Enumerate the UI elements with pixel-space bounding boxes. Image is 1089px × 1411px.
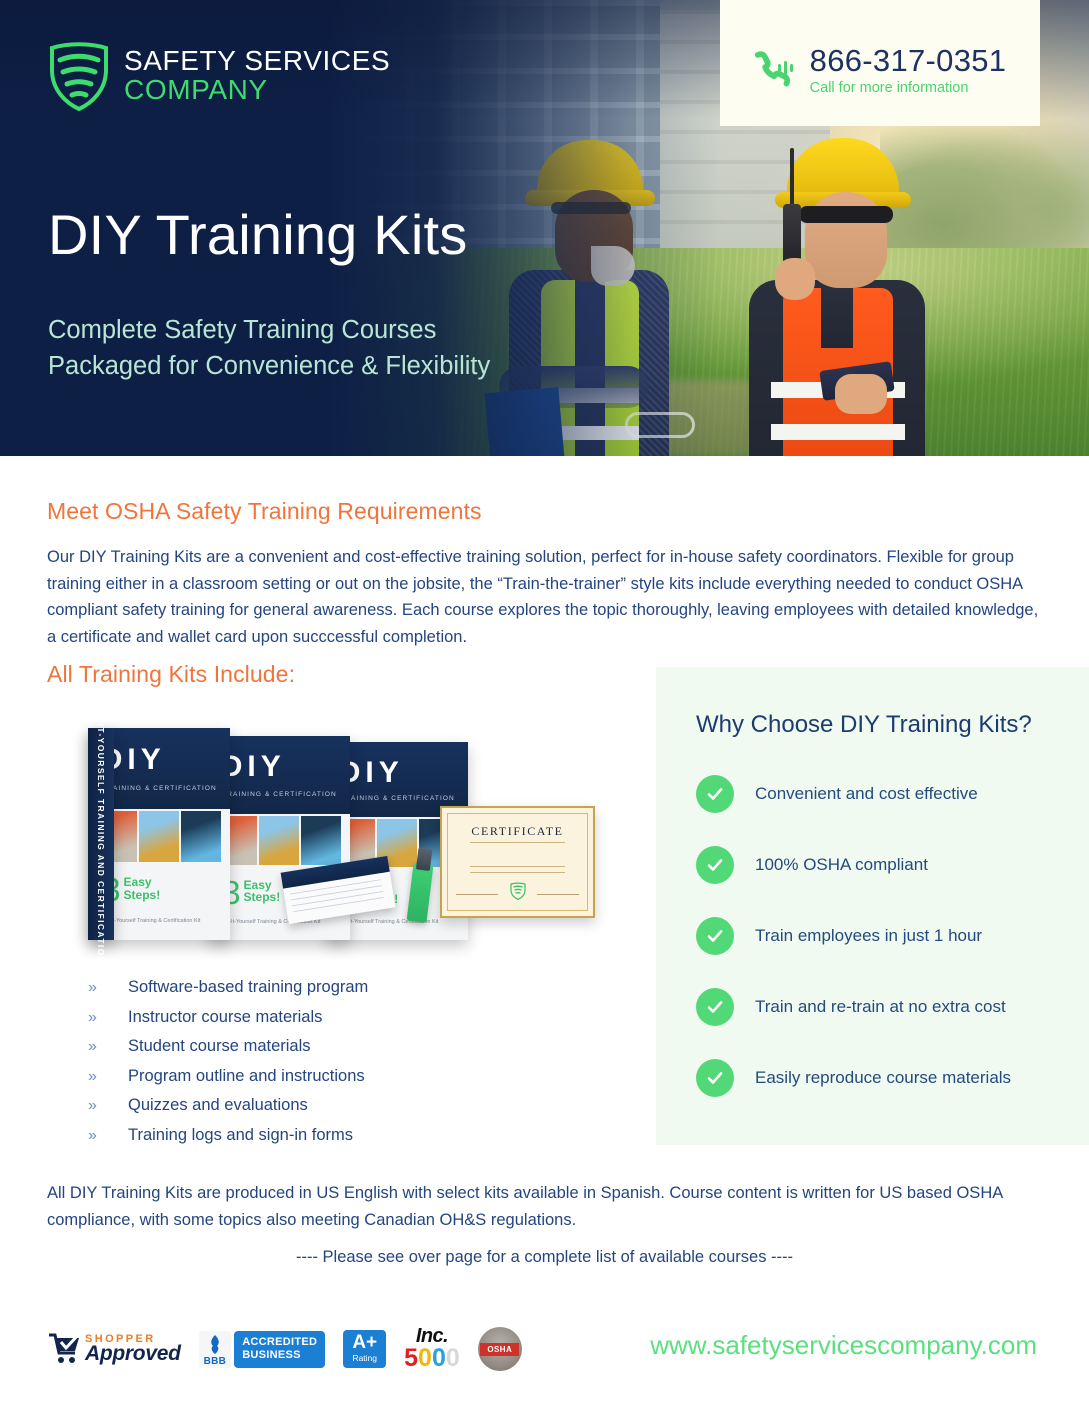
- list-item: 100% OSHA compliant: [696, 846, 1011, 884]
- list-item-label: Train and re-train at no extra cost: [755, 997, 1006, 1017]
- page-title: DIY Training Kits: [48, 202, 467, 267]
- footnote-paragraph: All DIY Training Kits are produced in US…: [47, 1180, 1042, 1233]
- list-item: » Quizzes and evaluations: [88, 1096, 508, 1115]
- logo-line-1: SAFETY SERVICES: [124, 47, 390, 76]
- list-item: » Student course materials: [88, 1037, 508, 1056]
- bullet-marker-icon: »: [88, 1097, 98, 1115]
- binder-subtitle: TRAINING & CERTIFICATION: [102, 785, 217, 792]
- steps-line-2: Steps!: [244, 891, 281, 904]
- why-choose-panel: Why Choose DIY Training Kits? Convenient…: [656, 667, 1089, 1145]
- badge-bbb-accredited[interactable]: BBB ACCREDITED BUSINESS: [199, 1331, 326, 1368]
- hero-subtitle: Complete Safety Training Courses Package…: [48, 312, 490, 384]
- badge-aplus-rating[interactable]: A+ Rating: [343, 1330, 386, 1368]
- binder-title: DIY: [221, 750, 286, 784]
- list-item: » Training logs and sign-in forms: [88, 1126, 508, 1145]
- badge-osha-seal[interactable]: OSHA: [478, 1327, 522, 1371]
- bbb-accredited-line-2: BUSINESS: [242, 1349, 317, 1362]
- bbb-accredited-line-1: ACCREDITED: [242, 1336, 317, 1349]
- steps-line-2: Steps!: [124, 889, 161, 902]
- intro-heading: Meet OSHA Safety Training Requirements: [47, 498, 1042, 525]
- bullet-marker-icon: »: [88, 1009, 98, 1027]
- list-item: » Program outline and instructions: [88, 1067, 508, 1086]
- phone-callout-box[interactable]: 866-317-0351 Call for more information: [720, 0, 1040, 126]
- check-circle-icon: [696, 988, 734, 1026]
- logo-line-2: COMPANY: [124, 76, 390, 105]
- kit-contents-list: » Software-based training program » Inst…: [88, 978, 508, 1155]
- check-circle-icon: [696, 1059, 734, 1097]
- certificate-title: CERTIFICATE: [442, 824, 593, 839]
- phone-caption: Call for more information: [810, 78, 1007, 100]
- list-item-label: Program outline and instructions: [128, 1067, 365, 1086]
- why-choose-title: Why Choose DIY Training Kits?: [696, 711, 1032, 739]
- kits-include-heading: All Training Kits Include:: [47, 661, 295, 688]
- hero-banner: SAFETY SERVICES COMPANY 866-317-0351 Cal…: [0, 0, 1089, 456]
- company-logo[interactable]: SAFETY SERVICES COMPANY: [48, 40, 390, 112]
- badge-shopper-approved[interactable]: SHOPPER Approved: [48, 1333, 181, 1365]
- aplus-grade: A+: [352, 1333, 377, 1352]
- shield-waves-icon: [510, 882, 526, 900]
- list-item: Easily reproduce course materials: [696, 1059, 1011, 1097]
- certificate: CERTIFICATE: [440, 806, 595, 918]
- list-item-label: Quizzes and evaluations: [128, 1096, 308, 1115]
- list-item: » Instructor course materials: [88, 1008, 508, 1027]
- list-item-label: Training logs and sign-in forms: [128, 1126, 353, 1145]
- binder-subtitle: TRAINING & CERTIFICATION: [222, 791, 337, 798]
- bbb-torch-icon: [207, 1334, 223, 1356]
- list-item-label: Software-based training program: [128, 978, 368, 997]
- list-item-label: Convenient and cost effective: [755, 784, 978, 804]
- inc-number: 5000: [404, 1346, 460, 1371]
- binder-caption: Do-It-Yourself Training & Certification …: [102, 917, 200, 925]
- bullet-marker-icon: »: [88, 1038, 98, 1056]
- aplus-label: Rating: [352, 1352, 377, 1365]
- bullet-marker-icon: »: [88, 1068, 98, 1086]
- osha-label: OSHA: [480, 1343, 519, 1356]
- product-image-diy-kits: DIY TRAINING & CERTIFICATION 3 Easy Step…: [88, 718, 598, 950]
- badge-inc-5000[interactable]: Inc. 5000: [404, 1327, 460, 1370]
- hero-subtitle-line-2: Packaged for Convenience & Flexibility: [48, 348, 490, 384]
- phone-number[interactable]: 866-317-0351: [810, 44, 1007, 78]
- binder-subtitle: TRAINING & CERTIFICATION: [340, 795, 455, 802]
- phone-ringing-icon: [754, 51, 796, 93]
- trust-badges: SHOPPER Approved BBB ACCREDITED BUSINESS…: [48, 1325, 522, 1373]
- list-item: Train and re-train at no extra cost: [696, 988, 1011, 1026]
- list-item-label: Instructor course materials: [128, 1008, 322, 1027]
- website-url[interactable]: www.safetyservicescompany.com: [650, 1330, 1037, 1361]
- check-circle-icon: [696, 917, 734, 955]
- check-circle-icon: [696, 846, 734, 884]
- bbb-label: BBB: [204, 1356, 227, 1367]
- check-circle-icon: [696, 775, 734, 813]
- list-item: Convenient and cost effective: [696, 775, 1011, 813]
- benefits-list: Convenient and cost effective 100% OSHA …: [696, 775, 1011, 1130]
- intro-paragraph: Our DIY Training Kits are a convenient a…: [47, 544, 1042, 651]
- binder-spine: DO-IT-YOURSELF TRAINING AND CERTIFICATIO…: [88, 728, 114, 940]
- spine-text: DO-IT-YOURSELF TRAINING AND CERTIFICATIO…: [96, 704, 106, 964]
- bullet-marker-icon: »: [88, 1127, 98, 1145]
- inc-word: Inc.: [416, 1327, 448, 1345]
- list-item-label: Easily reproduce course materials: [755, 1068, 1011, 1088]
- shield-waves-icon: [48, 40, 110, 112]
- intro-section: Meet OSHA Safety Training Requirements O…: [47, 498, 1042, 651]
- list-item: » Software-based training program: [88, 978, 508, 997]
- see-over-page-note: ---- Please see over page for a complete…: [47, 1248, 1042, 1267]
- list-item-label: Student course materials: [128, 1037, 311, 1056]
- list-item-label: Train employees in just 1 hour: [755, 926, 982, 946]
- shopping-cart-check-icon: [48, 1333, 82, 1365]
- list-item: Train employees in just 1 hour: [696, 917, 1011, 955]
- shopper-approved-bottom: Approved: [85, 1344, 181, 1364]
- bullet-marker-icon: »: [88, 979, 98, 997]
- hero-subtitle-line-1: Complete Safety Training Courses: [48, 312, 490, 348]
- list-item-label: 100% OSHA compliant: [755, 855, 928, 875]
